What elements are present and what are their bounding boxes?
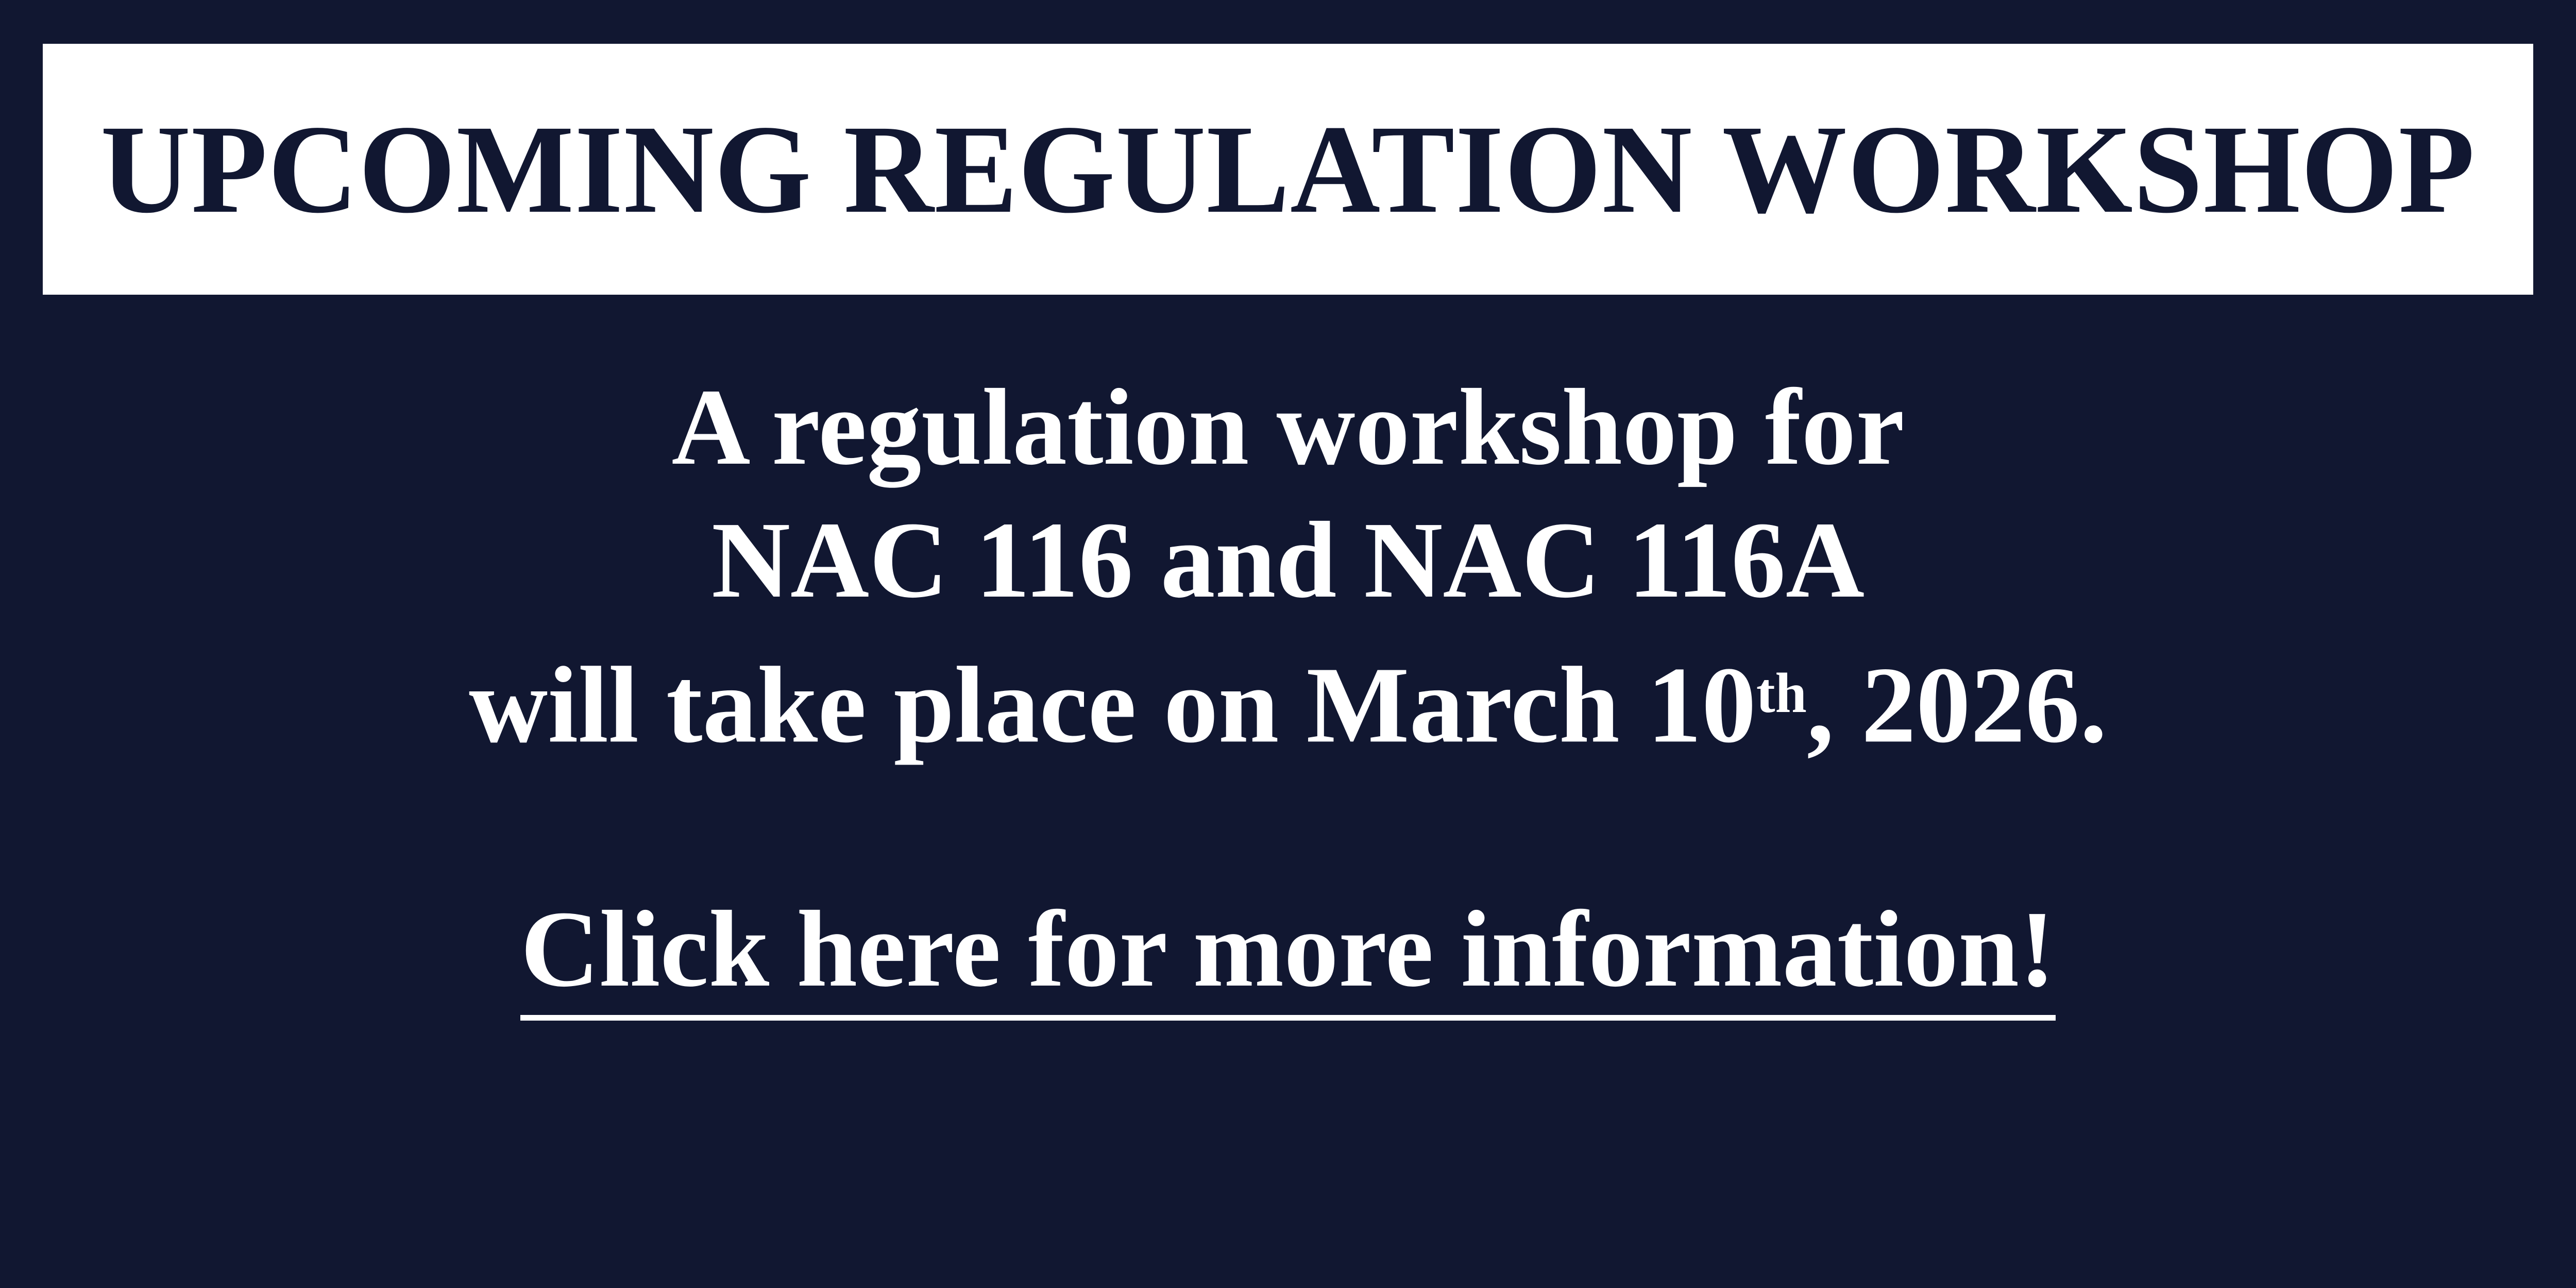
body-line-3-date: will take place on March 10th, 2026.	[0, 626, 2576, 771]
date-prefix: will take place on March 10	[469, 644, 1756, 765]
announcement-poster: UPCOMING REGULATION WORKSHOP A regulatio…	[0, 0, 2576, 1288]
link-block: Click here for more information!	[0, 889, 2576, 1021]
header-banner: UPCOMING REGULATION WORKSHOP	[43, 44, 2533, 295]
body-text-block: A regulation workshop for NAC 116 and NA…	[0, 361, 2576, 771]
date-suffix: , 2026.	[1807, 644, 2107, 765]
date-ordinal-suffix: th	[1756, 662, 1807, 724]
body-line-1: A regulation workshop for	[0, 361, 2576, 494]
more-information-link[interactable]: Click here for more information!	[520, 889, 2055, 1021]
body-line-2: NAC 116 and NAC 116A	[0, 494, 2576, 626]
page-title: UPCOMING REGULATION WORKSHOP	[100, 106, 2475, 233]
